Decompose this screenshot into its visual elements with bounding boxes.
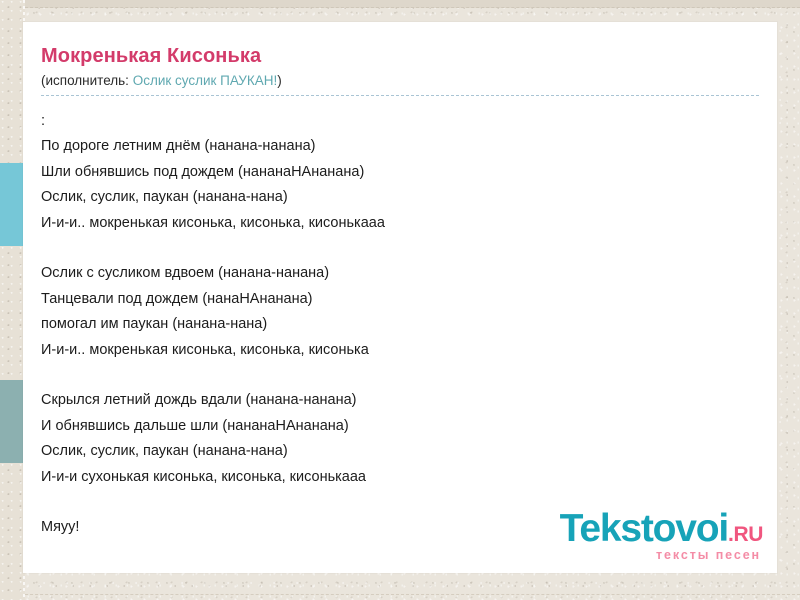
lyrics-line: И обнявшись дальше шли (нананаНАнанана): [41, 414, 759, 440]
artist-prefix-label: (исполнитель:: [41, 73, 133, 88]
lyrics-line: И-и-и.. мокренькая кисонька, кисонька, к…: [41, 338, 759, 364]
top-edge-band: [0, 0, 800, 8]
edge-strip-block-2: [0, 246, 25, 380]
lyrics-line: :: [41, 109, 759, 135]
lyrics-line: По дороге летним днём (нанана-нанана): [41, 134, 759, 160]
artist-link[interactable]: Ослик суслик ПАУКАН!: [133, 73, 278, 88]
lyrics-line: помогал им паукан (нанана-нана): [41, 312, 759, 338]
lyrics-line: Шли обнявшись под дождем (нананаНАнанана…: [41, 160, 759, 186]
lyrics-line: И-и-и.. мокренькая кисонька, кисонька, к…: [41, 211, 759, 237]
site-logo: Tekstovoi.RU тексты песен: [560, 509, 763, 562]
lyrics-line: Танцевали под дождем (нанаНАнанана): [41, 287, 759, 313]
lyrics-line: Ослик с сусликом вдвоем (нанана-нанана): [41, 261, 759, 287]
lyrics-line: Ослик, суслик, паукан (нанана-нана): [41, 185, 759, 211]
logo-tagline: тексты песен: [560, 549, 761, 562]
lyrics-stanza: :По дороге летним днём (нанана-нанана)Шл…: [41, 109, 759, 237]
lyrics-line: Скрылся летний дождь вдали (нанана-нанан…: [41, 388, 759, 414]
lyrics-line: Ослик, суслик, паукан (нанана-нана): [41, 439, 759, 465]
lyrics-card: Мокренькая Кисонька (исполнитель: Ослик …: [23, 22, 777, 573]
lyrics-stanza: Скрылся летний дождь вдали (нанана-нанан…: [41, 388, 759, 490]
decorative-left-strip: [0, 0, 25, 600]
lyrics-body: :По дороге летним днём (нанана-нанана)Шл…: [41, 109, 759, 541]
lyrics-stanza: Ослик с сусликом вдвоем (нанана-нанана)Т…: [41, 261, 759, 363]
artist-line: (исполнитель: Ослик суслик ПАУКАН!): [41, 72, 759, 90]
page-title: Мокренькая Кисонька: [41, 44, 759, 69]
logo-tld: .RU: [728, 524, 763, 545]
edge-strip-block-1: [0, 163, 25, 246]
header-divider: [41, 95, 759, 96]
edge-strip-block-3: [0, 380, 25, 463]
logo-wordmark: Tekstovoi: [560, 509, 728, 548]
artist-suffix-label: ): [277, 73, 282, 88]
edge-strip-block-4: [0, 463, 25, 600]
card-inner: Мокренькая Кисонька (исполнитель: Ослик …: [23, 22, 777, 573]
bottom-edge-rule: [0, 594, 800, 595]
lyrics-line: И-и-и сухонькая кисонька, кисонька, кисо…: [41, 465, 759, 491]
edge-strip-block-0: [0, 0, 25, 163]
